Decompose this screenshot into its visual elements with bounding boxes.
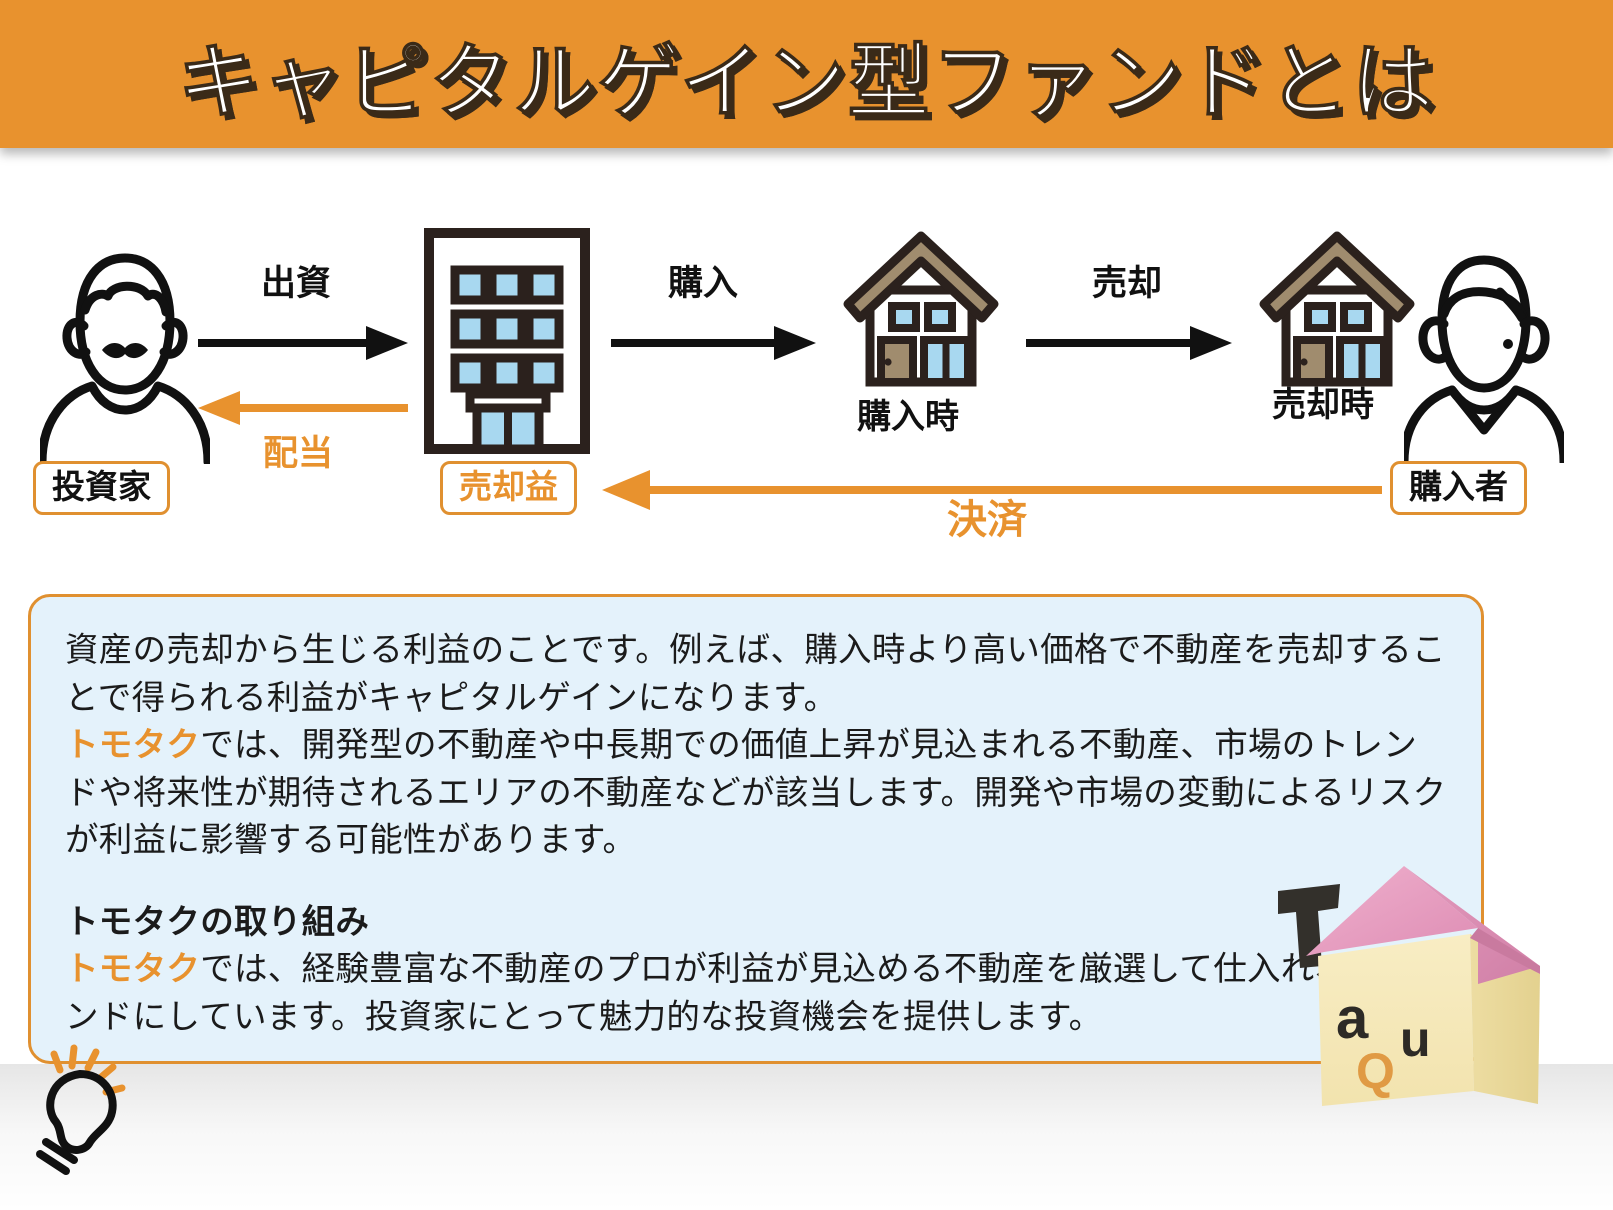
info-paragraph-1: 資産の売却から生じる利益のことです。例えば、購入時より高い価格で不動産を売却する… bbox=[65, 627, 1447, 722]
node-investor bbox=[40, 244, 210, 469]
taqu-house-mascot: a u Q bbox=[1278, 856, 1598, 1156]
lightbulb-icon bbox=[18, 1040, 148, 1180]
house-icon bbox=[836, 228, 1006, 388]
caption-house-purchase: 購入時 bbox=[857, 400, 959, 434]
flow-diagram: 投資家 出資 配当 売却益 購入 bbox=[0, 148, 1613, 578]
info-paragraph-2: トモタクでは、開発型の不動産や中長期での価値上昇が見込まれる不動産、市場のトレン… bbox=[65, 722, 1447, 865]
node-house-sale bbox=[1252, 228, 1422, 393]
mascot-letter-u: u bbox=[1400, 1011, 1431, 1067]
mascot-letter-Q: Q bbox=[1356, 1043, 1395, 1099]
flow-label-haitou: 配当 bbox=[263, 436, 333, 471]
flow-label-toushi: 出資 bbox=[261, 266, 331, 301]
paragraph-spacer bbox=[65, 865, 1447, 899]
node-fund-building bbox=[424, 228, 590, 459]
info-subheading: トモタクの取り組み bbox=[65, 899, 1447, 947]
mustache-icon bbox=[102, 343, 148, 358]
node-house-purchase bbox=[836, 228, 1006, 393]
arrow-kounyuu-right bbox=[611, 326, 816, 360]
buyer-person-icon bbox=[1404, 248, 1564, 463]
info-paragraph-3: トモタクでは、経験豊富な不動産のプロが利益が見込める不動産を厳選して仕入れ、ファ… bbox=[65, 946, 1447, 1041]
mascot-letter-a: a bbox=[1336, 986, 1369, 1051]
flow-label-baikyaku: 売却 bbox=[1092, 266, 1162, 301]
house-icon bbox=[1252, 228, 1422, 388]
investor-person-icon bbox=[40, 244, 210, 464]
arrow-haitou-left bbox=[198, 391, 408, 425]
office-building-icon bbox=[424, 228, 590, 454]
pill-buyer: 購入者 bbox=[1390, 461, 1527, 515]
page-title: キャピタルゲイン型ファンドとは bbox=[177, 15, 1435, 134]
info-paragraph-2-rest: では、開発型の不動産や中長期での価値上昇が見込まれる不動産、市場のトレンドや将来… bbox=[65, 727, 1446, 859]
caption-house-sale: 売却時 bbox=[1272, 388, 1374, 422]
arrow-toushi-right bbox=[198, 326, 408, 360]
flow-label-kessai: 決済 bbox=[947, 500, 1027, 540]
brand-name: トモタク bbox=[65, 951, 200, 988]
description-panel: 資産の売却から生じる利益のことです。例えば、購入時より高い価格で不動産を売却する… bbox=[28, 594, 1484, 1064]
node-buyer bbox=[1404, 248, 1564, 468]
arrow-baikyaku-right bbox=[1026, 326, 1232, 360]
flow-label-kounyuu: 購入 bbox=[668, 266, 738, 301]
brand-name: トモタク bbox=[65, 727, 200, 764]
pill-capital-gain: 売却益 bbox=[440, 461, 577, 515]
info-paragraph-3-rest: では、経験豊富な不動産のプロが利益が見込める不動産を厳選して仕入れ、ファンドにし… bbox=[65, 951, 1416, 1036]
page-header: キャピタルゲイン型ファンドとは bbox=[0, 0, 1613, 148]
pill-investor: 投資家 bbox=[33, 461, 170, 515]
